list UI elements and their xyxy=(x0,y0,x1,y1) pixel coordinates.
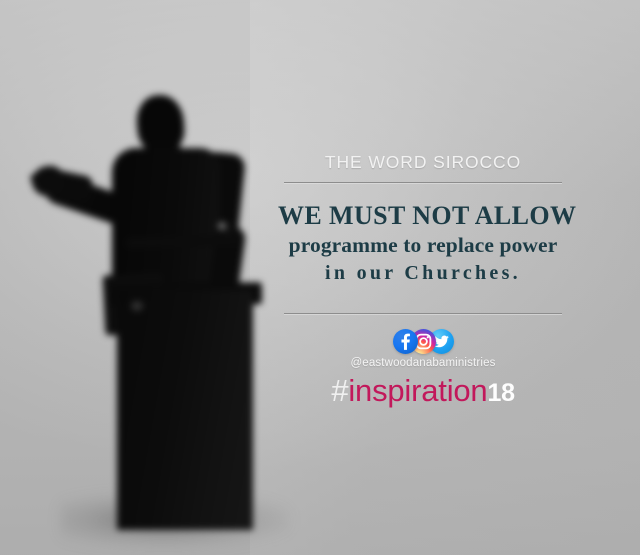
facebook-icon[interactable] xyxy=(393,329,418,354)
quote-line-2: programme to replace power xyxy=(278,232,568,260)
quote-line-1: WE MUST NOT ALLOW xyxy=(278,201,568,232)
hashtag-lockup: #inspiration18 xyxy=(278,374,568,407)
kicker-title: THE WORD SIROCCO xyxy=(278,152,568,173)
hashtag-symbol: # xyxy=(331,373,348,408)
divider-bottom xyxy=(284,313,562,315)
podium-highlight-lower xyxy=(131,301,143,311)
quote-block: WE MUST NOT ALLOW programme to replace p… xyxy=(278,201,568,287)
inspiration-poster: THE WORD SIROCCO WE MUST NOT ALLOW progr… xyxy=(0,0,640,555)
podium-body xyxy=(117,290,253,530)
hashtag-word: inspiration xyxy=(348,373,487,408)
podium-highlight-upper xyxy=(218,222,226,230)
quote-line-3: in our Churches. xyxy=(278,260,568,287)
divider-top xyxy=(284,182,562,184)
hashtag-number: 18 xyxy=(487,379,514,407)
social-handle: @eastwoodanabaministries xyxy=(278,357,568,369)
social-icon-row xyxy=(278,329,568,355)
text-panel: THE WORD SIROCCO WE MUST NOT ALLOW progr… xyxy=(278,152,568,407)
divider-bottom-wrap xyxy=(278,313,568,315)
